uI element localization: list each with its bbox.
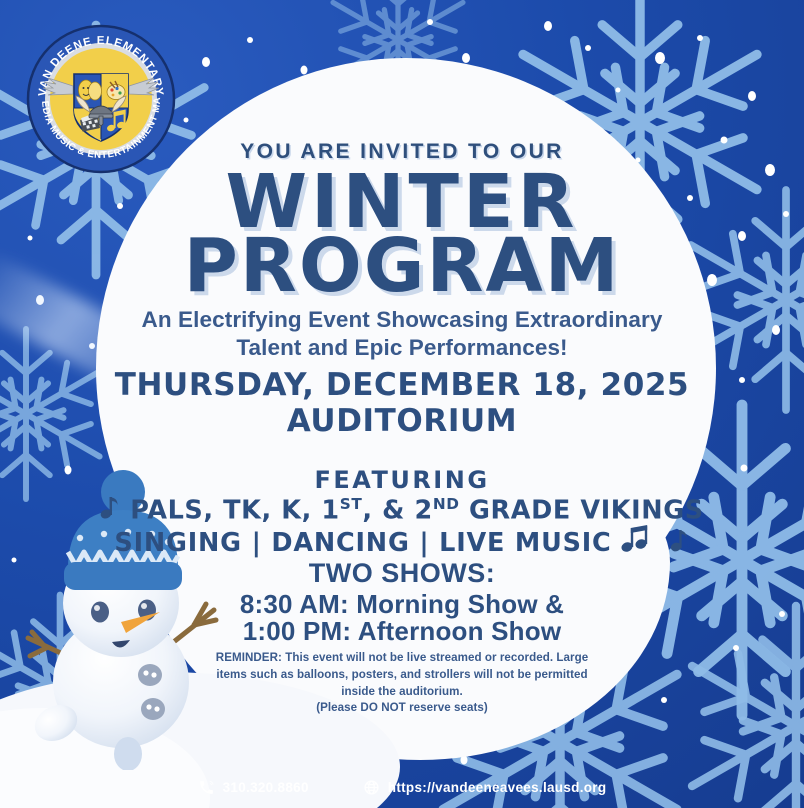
grades-post: GRADE VIKINGS <box>460 496 704 526</box>
two-shows-label: TWO SHOWS: <box>0 558 804 589</box>
grades-mid: , & 2 <box>362 496 432 526</box>
featuring-heading: FEATURING <box>0 466 804 494</box>
reminder-note: REMINDER: This event will not be live st… <box>202 650 602 717</box>
disciplines-text: SINGING | DANCING | LIVE MUSIC <box>114 528 611 558</box>
event-datetime: THURSDAY, DECEMBER 18, 2025 AUDITORIUM <box>0 368 804 439</box>
footer-contact: 310.320.8860 https://vandeeneavees.lausd… <box>0 779 804 796</box>
tagline-line-2: Talent and Epic Performances! <box>0 334 804 362</box>
phone-contact[interactable]: 310.320.8860 <box>198 779 309 796</box>
grades-text: PALS, TK, K, 1ST, & 2ND GRADE VIKINGS <box>130 495 703 526</box>
grades-sup-1st: ST <box>340 495 363 513</box>
winter-program-flyer: VAN DEENE ELEMENTARY ART MEDIA MUSIC & E… <box>0 0 804 808</box>
event-date: THURSDAY, DECEMBER 18, 2025 <box>0 368 804 404</box>
phone-number: 310.320.8860 <box>223 780 309 795</box>
grades-sup-2nd: ND <box>433 495 460 513</box>
reminder-line-4: (Please DO NOT reserve seats) <box>202 700 602 717</box>
phone-icon <box>198 779 215 796</box>
website-url: https://vandeeneavees.lausd.org <box>388 780 607 795</box>
music-notes-pair-icon <box>621 523 661 562</box>
title-program: PROGRAM <box>0 232 804 302</box>
music-note-single-icon <box>670 524 690 561</box>
reminder-line-1: REMINDER: This event will not be live st… <box>216 651 497 664</box>
featuring-disciplines: SINGING | DANCING | LIVE MUSIC <box>0 523 804 562</box>
tagline: An Electrifying Event Showcasing Extraor… <box>0 306 804 362</box>
globe-icon <box>363 779 380 796</box>
website-contact[interactable]: https://vandeeneavees.lausd.org <box>363 779 607 796</box>
flyer-content: YOU ARE INVITED TO OUR WINTER PROGRAM An… <box>0 0 804 808</box>
tagline-line-1: An Electrifying Event Showcasing Extraor… <box>0 306 804 334</box>
event-venue: AUDITORIUM <box>0 404 804 440</box>
show-afternoon: 1:00 PM: Afternoon Show <box>0 616 804 647</box>
grades-pre: PALS, TK, K, 1 <box>130 496 339 526</box>
